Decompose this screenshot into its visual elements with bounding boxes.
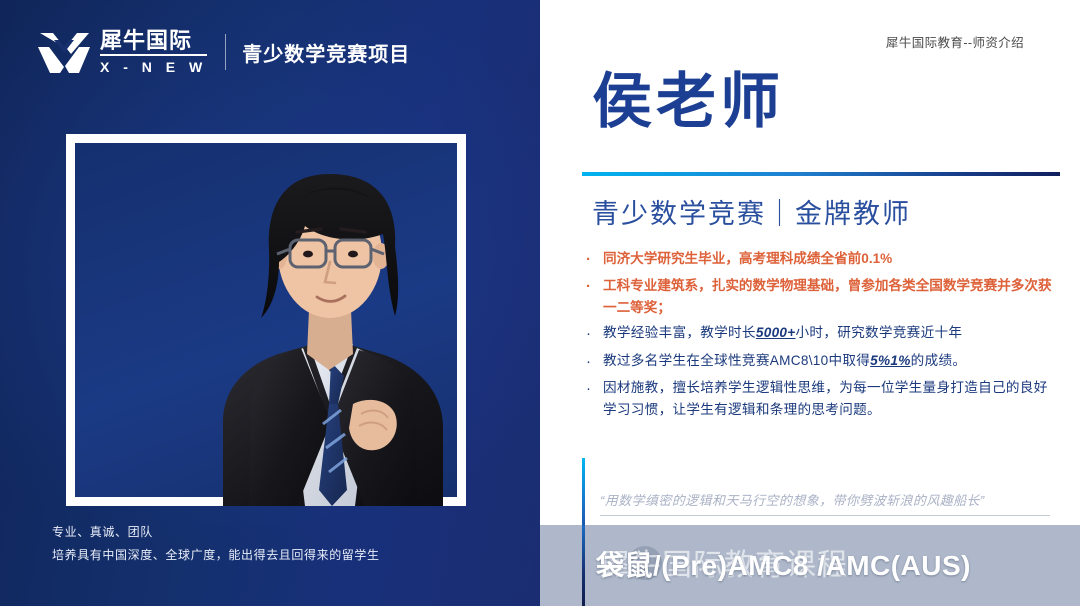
slide-root: American Mathematics Competition: [0, 0, 1080, 606]
bullet-segment: 小时，研究数学竞赛近十年: [796, 325, 963, 340]
brand-tagline: 青少数学竞赛项目: [242, 38, 410, 67]
bullet-marker-icon: ·: [586, 248, 603, 272]
brand-name-en: X - N E W: [100, 60, 207, 74]
bio-bullet-item: ·教学经验丰富，教学时长5000+小时，研究数学竞赛近十年: [586, 322, 1054, 346]
bullet-segment: 教学经验丰富，教学时长: [603, 325, 756, 340]
brand-lockup: 犀牛国际 X - N E W 青少数学竞赛项目: [36, 26, 410, 78]
bullet-segment: 教过多名学生在全球性竞赛AMC8\10中取得: [603, 353, 870, 368]
brand-words: 犀牛国际 X - N E W: [100, 30, 207, 74]
bullet-text: 教学经验丰富，教学时长5000+小时，研究数学竞赛近十年: [603, 322, 1054, 344]
footer-line-1: 专业、真诚、团队: [52, 521, 380, 544]
bullet-segment: 因材施教，擅长培养学生逻辑性思维，为每一位学生量身打造自己的良好学习习惯，让学生…: [603, 380, 1048, 417]
bio-bullet-item: ·工科专业建筑系，扎实的数学物理基础，曾参加各类全国数学竞赛并多次获一二等奖；: [586, 275, 1054, 319]
bullet-text: 因材施教，擅长培养学生逻辑性思维，为每一位学生量身打造自己的良好学习习惯，让学生…: [603, 377, 1054, 421]
bio-bullet-item: ·同济大学研究生毕业，高考理科成绩全省前0.1%: [586, 248, 1054, 272]
brand-divider: [225, 34, 226, 70]
bio-bullet-item: ·教过多名学生在全球性竞赛AMC8\10中取得5%1%的成绩。: [586, 350, 1054, 374]
bullet-text: 教过多名学生在全球性竞赛AMC8\10中取得5%1%的成绩。: [603, 350, 1054, 372]
bullet-marker-icon: ·: [586, 275, 603, 299]
band-accent-bar: [582, 525, 585, 606]
bullet-text: 同济大学研究生毕业，高考理科成绩全省前0.1%: [603, 248, 1054, 270]
left-footer: 专业、真诚、团队 培养具有中国深度、全球广度，能出得去且回得来的留学生: [52, 521, 380, 567]
bullet-marker-icon: ·: [586, 322, 603, 346]
title-divider: [582, 172, 1060, 176]
brand-name-cn: 犀牛国际: [100, 30, 207, 56]
bullet-segment: 同济大学研究生毕业，高考理科成绩全省前0.1%: [603, 251, 892, 266]
course-title: 袋鼠/(Pre)AMC8 /AMC(AUS): [596, 544, 1066, 584]
bullet-marker-icon: ·: [586, 350, 603, 374]
bio-bullet-item: ·因材施教，擅长培养学生逻辑性思维，为每一位学生量身打造自己的良好学习习惯，让学…: [586, 377, 1054, 421]
bullet-marker-icon: ·: [586, 377, 603, 401]
teacher-portrait: [205, 104, 455, 506]
teacher-quote: “用数学缜密的逻辑和天马行空的想象，带你劈波斩浪的风趣船长”: [600, 490, 1050, 516]
breadcrumb: 犀牛国际教育--师资介绍: [860, 32, 1050, 51]
bullet-segment: 的成绩。: [911, 353, 967, 368]
bullet-highlight: 5000+: [756, 325, 796, 340]
bullet-highlight: 5%1%: [870, 353, 911, 368]
page-title: 侯老师: [592, 72, 784, 132]
bullet-text: 工科专业建筑系，扎实的数学物理基础，曾参加各类全国数学竞赛并多次获一二等奖；: [603, 275, 1054, 319]
bullet-segment: 工科专业建筑系，扎实的数学物理基础，曾参加各类全国数学竞赛并多次获一二等奖；: [603, 278, 1052, 315]
page-subtitle: 青少数学竞赛｜金牌教师: [592, 192, 911, 231]
bio-bullet-list: ·同济大学研究生毕业，高考理科成绩全省前0.1%·工科专业建筑系，扎实的数学物理…: [586, 248, 1054, 424]
x-new-rhino-logo-icon: [36, 29, 92, 75]
footer-line-2: 培养具有中国深度、全球广度，能出得去且回得来的留学生: [52, 544, 380, 567]
